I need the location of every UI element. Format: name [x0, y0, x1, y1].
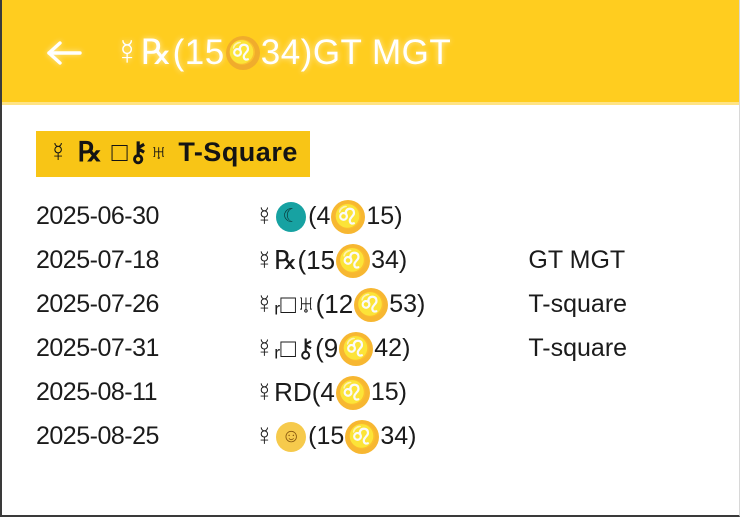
badge-square-aspect-glyph: □: [111, 138, 128, 168]
table-row[interactable]: 2025-07-18 ☿℞(15 ♌ 34) GT MGT: [2, 239, 739, 283]
table-row[interactable]: 2025-08-25 ☿ ☺ (15 ♌ 34): [2, 415, 739, 459]
degree-close: 42): [374, 334, 410, 363]
degree-open: (15: [308, 422, 344, 451]
leo-sign-icon: ♌: [354, 288, 388, 322]
page-title: ☿℞(15♌34) GT MGT: [114, 33, 451, 73]
degree-open: (4: [308, 202, 330, 231]
badge-label: T-Square: [178, 138, 298, 168]
new-moon-face-emoji: ☾: [276, 202, 306, 232]
table-row[interactable]: 2025-08-11 ☿RD(4 ♌ 15): [2, 371, 739, 415]
event-date: 2025-07-18: [2, 239, 255, 283]
degree-close: 15): [371, 378, 407, 407]
aspect-pattern-badge[interactable]: ☿ ℞ □ ⚷ ♅ T-Square: [36, 131, 310, 177]
event-description: ☿ ☺ (15 ♌ 34): [255, 415, 529, 459]
app-bar: ☿℞(15♌34) GT MGT: [2, 0, 739, 105]
event-note: [528, 195, 739, 239]
mercury-glyph: ☿: [255, 201, 275, 232]
event-date: 2025-07-31: [2, 327, 255, 371]
badge-mercury-glyph: ☿: [48, 138, 69, 168]
app-window: ☿℞(15♌34) GT MGT ☿ ℞ □ ⚷ ♅ T-Square 2025…: [0, 0, 740, 517]
event-description: ☿℞(15 ♌ 34): [255, 239, 529, 283]
event-description: ☿ᵣ□⚷(9 ♌ 42): [255, 327, 529, 371]
leo-sign-icon: ♌: [336, 244, 370, 278]
table-row[interactable]: 2025-07-26 ☿ᵣ□♅(12 ♌ 53) T-square: [2, 283, 739, 327]
degree-close: 34): [380, 422, 416, 451]
table-row[interactable]: 2025-06-30 ☿ ☾ (4 ♌ 15): [2, 195, 739, 239]
mercury-square-uranus-glyph: ☿ᵣ□♅(12: [255, 289, 354, 320]
table-row[interactable]: 2025-07-31 ☿ᵣ□⚷(9 ♌ 42) T-square: [2, 327, 739, 371]
arrow-left-icon: [45, 37, 85, 69]
title-leo-sign-icon: ♌: [226, 36, 260, 70]
mercury-retrograde-direct-glyph: ☿RD(4: [255, 377, 335, 408]
event-description: ☿ᵣ□♅(12 ♌ 53): [255, 283, 529, 327]
event-description: ☿RD(4 ♌ 15): [255, 371, 529, 415]
back-button[interactable]: [36, 24, 94, 82]
event-date: 2025-08-25: [2, 415, 255, 459]
title-mercury-glyph: ☿: [114, 33, 141, 73]
mercury-retrograde-glyph: ☿℞(15: [255, 245, 335, 276]
leo-sign-icon: ♌: [336, 376, 370, 410]
event-note: T-square: [528, 283, 739, 327]
leo-sign-icon: ♌: [339, 332, 373, 366]
leo-sign-icon: ♌: [345, 420, 379, 454]
event-date: 2025-07-26: [2, 283, 255, 327]
mercury-glyph: ☿: [255, 421, 275, 452]
event-date: 2025-06-30: [2, 195, 255, 239]
leo-sign-icon: ♌: [331, 200, 365, 234]
degree-close: 34): [371, 246, 407, 275]
event-date: 2025-08-11: [2, 371, 255, 415]
event-note: GT MGT: [528, 239, 739, 283]
badge-retrograde-glyph: ℞: [78, 138, 103, 168]
slightly-smiling-face-emoji: ☺: [276, 422, 306, 452]
main-content: ☿ ℞ □ ⚷ ♅ T-Square 2025-06-30 ☿: [2, 105, 739, 459]
badge-uranus-glyph: ♅: [149, 138, 170, 168]
badge-chiron-glyph: ⚷: [128, 138, 148, 168]
events-table-body: 2025-06-30 ☿ ☾ (4 ♌ 15) 2025-07-1: [2, 195, 739, 459]
event-note: [528, 415, 739, 459]
event-note: [528, 371, 739, 415]
title-degree-open: (15: [173, 33, 225, 73]
event-description: ☿ ☾ (4 ♌ 15): [255, 195, 529, 239]
mercury-square-chiron-glyph: ☿ᵣ□⚷(9: [255, 333, 339, 364]
events-table: 2025-06-30 ☿ ☾ (4 ♌ 15) 2025-07-1: [2, 195, 739, 459]
degree-close: 15): [366, 202, 402, 231]
badge-row: ☿ ℞ □ ⚷ ♅ T-Square: [2, 131, 739, 177]
title-retrograde-glyph: ℞: [141, 33, 173, 73]
title-suffix: GT MGT: [313, 33, 451, 73]
degree-close: 53): [389, 290, 425, 319]
title-degree-close: 34): [261, 33, 313, 73]
event-note: T-square: [528, 327, 739, 371]
